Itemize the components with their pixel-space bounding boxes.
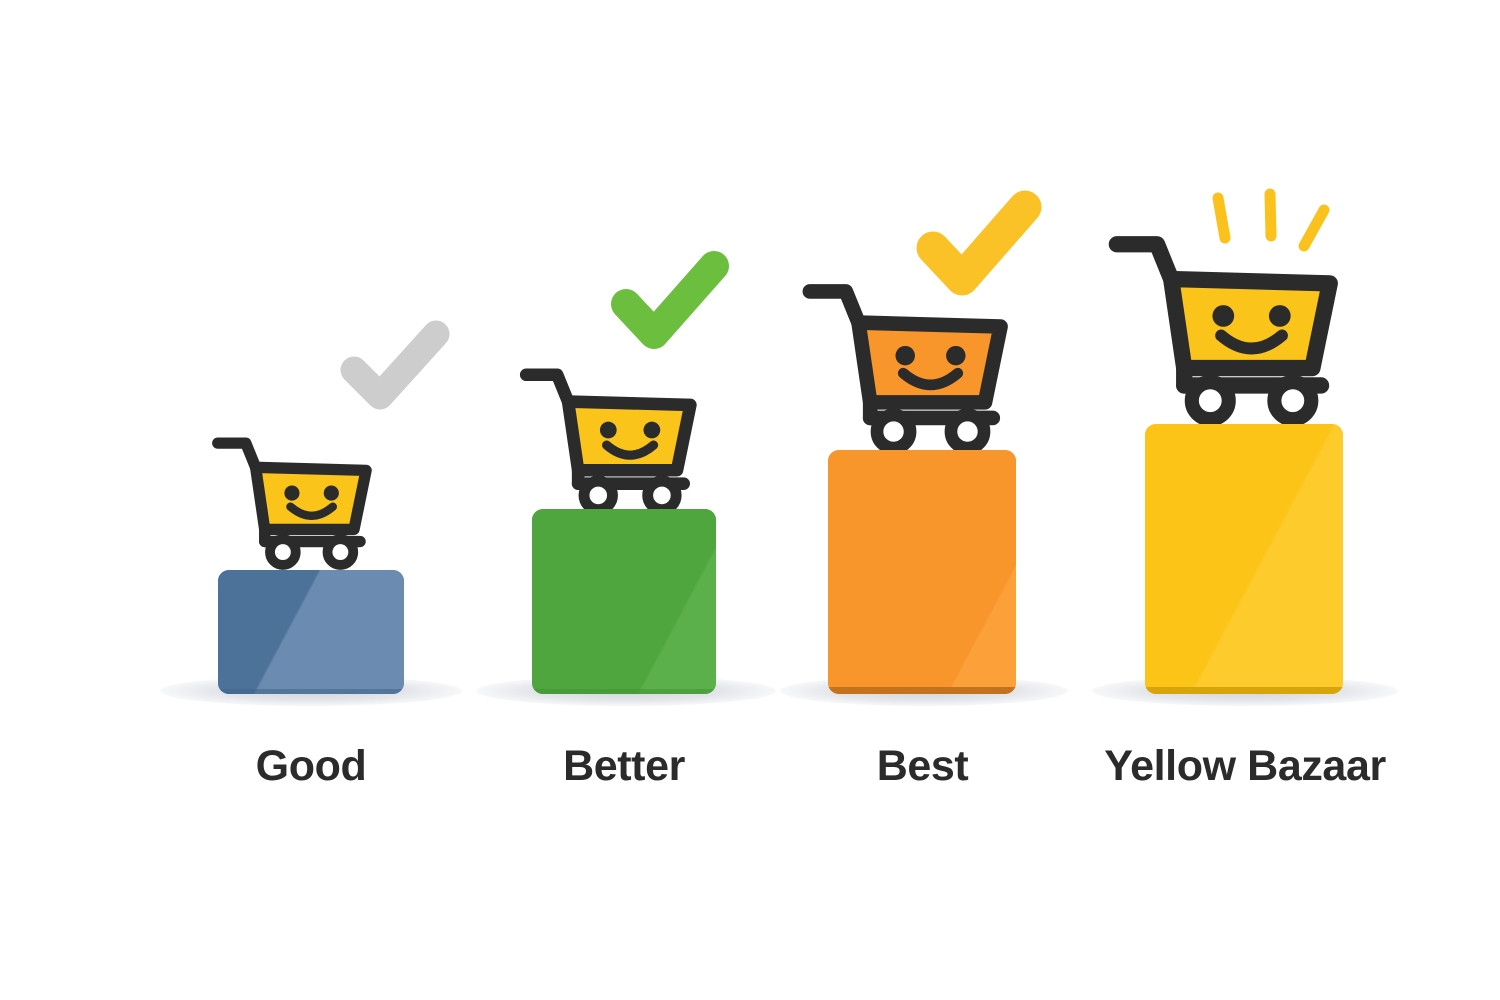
bar-sheen [218,570,404,694]
smiling-shopping-cart-icon-good [208,428,388,568]
bar-base-strip [828,687,1016,694]
bar-base-strip [218,689,404,694]
smiling-shopping-cart-icon-best [800,272,1026,452]
smiling-shopping-cart-icon-yellow-bazaar [1106,222,1358,424]
bar-sheen [828,450,1016,694]
bar-best [828,450,1016,694]
bar-label-best: Best [795,742,1050,791]
bar-good [218,570,404,694]
smiling-shopping-cart-icon-better [515,358,715,513]
bar-yellow-bazaar [1145,424,1343,694]
bar-better [532,509,716,694]
bar-label-good: Good [181,742,441,791]
bar-label-better: Better [494,742,754,791]
green-check-icon [612,246,730,350]
bar-sheen [532,509,716,694]
bar-label-yellow-bazaar: Yellow Bazaar [1075,742,1415,791]
bar-base-strip [532,689,716,694]
bar-base-strip [1145,687,1343,694]
comparison-chart-illustration: Good [0,0,1500,1000]
grey-check-icon [340,312,450,412]
bar-sheen [1145,424,1343,694]
